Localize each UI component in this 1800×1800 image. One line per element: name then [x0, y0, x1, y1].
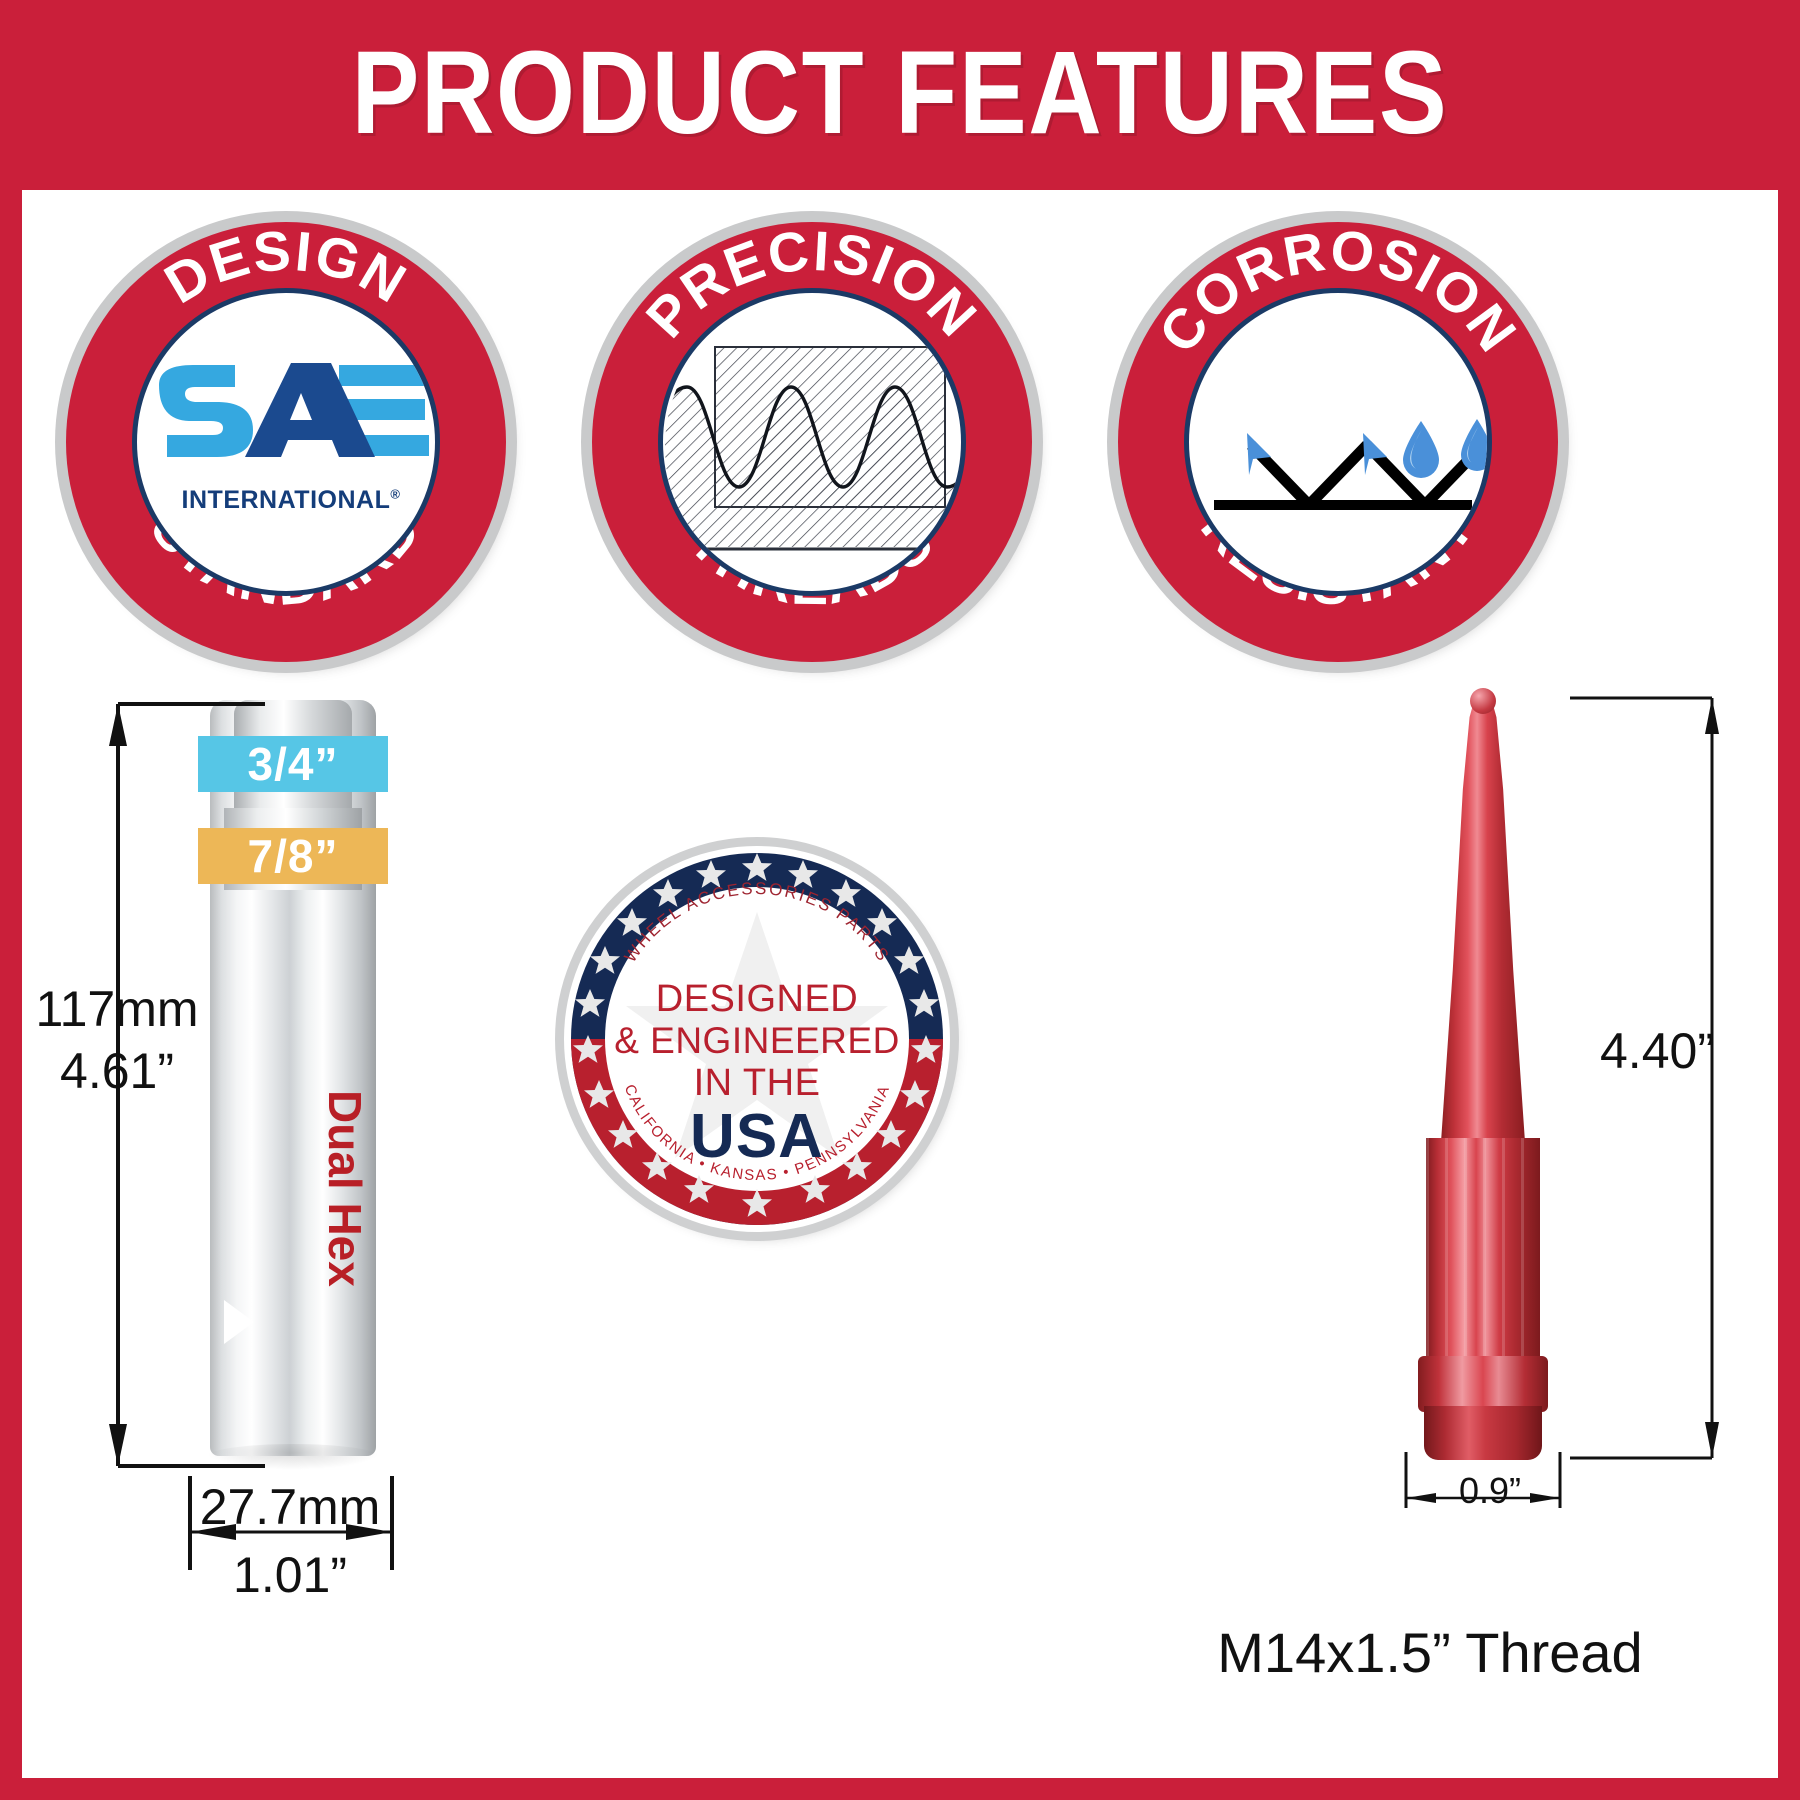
badge-precision-threads: PRECISION THREADS [592, 222, 1032, 662]
dual-hex-label: Dual Hex [318, 1090, 372, 1287]
silver-nut-width-mm-label: 27.7mm [140, 1478, 440, 1536]
thread-spec-label: M14x1.5” Thread [1120, 1620, 1740, 1685]
silver-nut-height-in-label: 4.61” [12, 1042, 222, 1100]
badge-inner-circle: INTERNATIONAL® [132, 288, 440, 596]
sae-logo: INTERNATIONAL® [137, 355, 440, 515]
spike-tip [1470, 688, 1496, 714]
red-nut-height-in-label: 4.40” [1600, 1022, 1800, 1080]
water-drop-icon [1461, 419, 1492, 471]
page-title: PRODUCT FEATURES [126, 34, 1674, 152]
water-drop-icon [1403, 421, 1439, 478]
water-repellent-icon [1189, 293, 1492, 596]
frame-bottom-border [0, 1778, 1800, 1800]
spline-flutes [1426, 1138, 1540, 1364]
frame-right-border [1778, 190, 1800, 1800]
badge-inner-circle [1184, 288, 1492, 596]
designed-engineered-usa-seal: WHEEL ACCESSORIES PARTS CALIFORNIA • KAN… [564, 846, 950, 1232]
badge-corrosion-resistant: CORROSION RESISTANT [1118, 222, 1558, 662]
silver-nut-width-in-label: 1.01” [140, 1546, 440, 1604]
spike-cone [1441, 690, 1525, 1142]
infographic-canvas: PRODUCT FEATURES DESIGN STANDARD [0, 0, 1800, 1800]
silver-nut-height-mm-label: 117mm [12, 980, 222, 1038]
thread-profile-icon [658, 288, 966, 596]
red-nut-width-in-label: 0.9” [1420, 1470, 1560, 1512]
badge-inner-circle [658, 288, 966, 596]
badge-design-standard: DESIGN STANDARD INTERNATIONAL® [66, 222, 506, 662]
red-nut-height-dimension [1560, 688, 1760, 1478]
sae-subtitle: INTERNATIONAL® [137, 486, 440, 515]
nut-collar [1418, 1356, 1548, 1412]
sae-wordmark-icon [141, 355, 440, 467]
red-spike-lug-nut-image [1408, 690, 1558, 1462]
usa-seal-graphics: WHEEL ACCESSORIES PARTS CALIFORNIA • KAN… [564, 846, 950, 1232]
